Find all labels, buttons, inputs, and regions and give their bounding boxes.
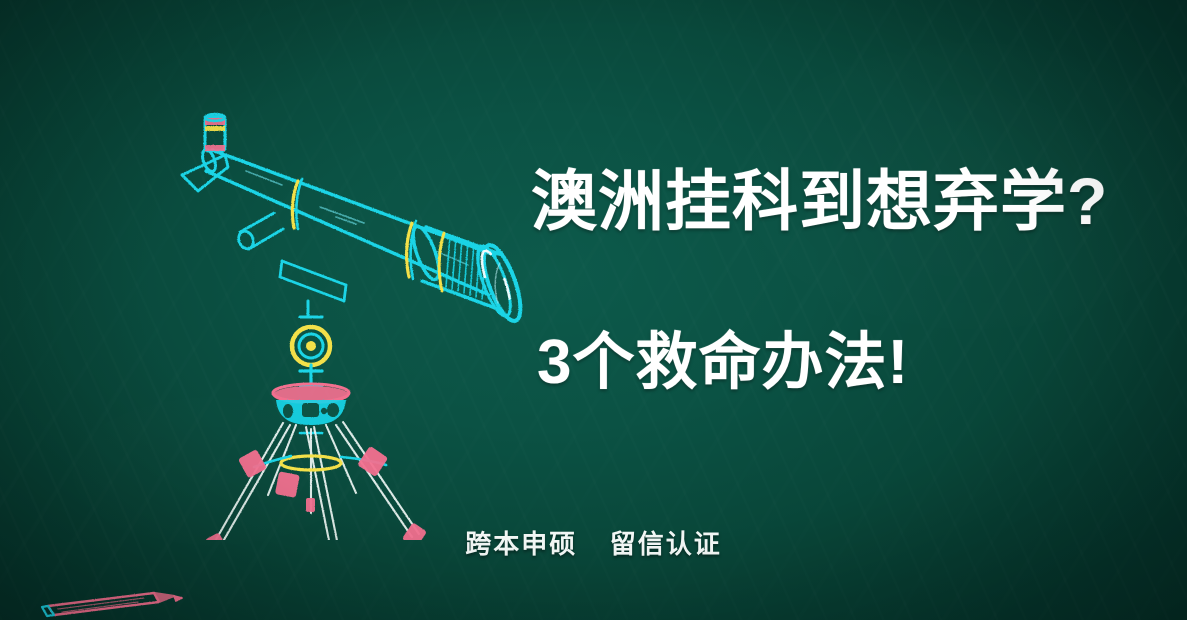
page-title: 澳洲挂科到想弃学? xyxy=(531,166,1108,237)
footnote-part-two: 留信认证 xyxy=(610,529,722,559)
footnote: 跨本申硕 留信认证 xyxy=(0,524,1187,561)
poster-canvas: 澳洲挂科到想弃学? 3个救命办法! 跨本申硕 留信认证 xyxy=(0,0,1187,620)
footnote-part-one: 跨本申硕 xyxy=(465,529,577,559)
telescope-illustration xyxy=(150,95,570,540)
pencil-illustration xyxy=(32,582,197,620)
page-subtitle: 3个救命办法! xyxy=(537,330,909,397)
